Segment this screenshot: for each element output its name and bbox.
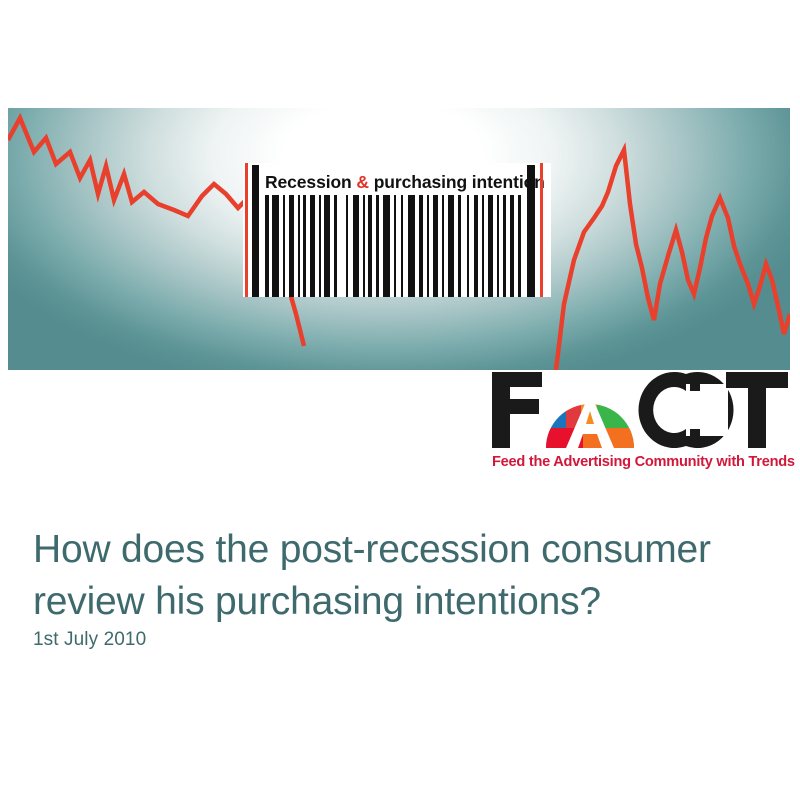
barcode-bars xyxy=(243,195,551,297)
barcode-bar xyxy=(467,195,469,297)
logo-letter-c xyxy=(638,372,733,448)
presentation-date: 1st July 2010 xyxy=(33,629,146,651)
headline-line-2: review his purchasing intentions? xyxy=(33,576,763,628)
barcode-bar xyxy=(448,195,454,297)
barcode-bar xyxy=(482,195,484,297)
logo-letter-f xyxy=(492,372,542,448)
barcode-bar xyxy=(442,195,444,297)
fact-wordmark xyxy=(490,370,790,450)
barcode-bar xyxy=(324,195,330,297)
barcode-title-prefix: Recession xyxy=(265,172,356,192)
barcode-bar xyxy=(394,195,396,297)
barcode-bar xyxy=(346,195,348,297)
barcode-bar xyxy=(334,195,337,297)
barcode-title: Recession & purchasing intention xyxy=(265,169,533,195)
barcode-bar xyxy=(458,195,461,297)
barcode-accent-right xyxy=(540,163,543,297)
barcode-bar xyxy=(298,195,300,297)
logo-letter-a xyxy=(542,392,638,450)
barcode-bar xyxy=(497,195,499,297)
barcode-guard-bar xyxy=(252,165,259,297)
barcode-bar xyxy=(510,195,514,297)
chart-line-right xyxy=(556,150,790,370)
barcode-bar xyxy=(503,195,506,297)
barcode-title-suffix: purchasing intention xyxy=(369,172,545,192)
barcode-title-ampersand: & xyxy=(356,172,369,192)
barcode-bar xyxy=(272,195,279,297)
barcode-bar xyxy=(488,195,493,297)
barcode-bar xyxy=(310,195,315,297)
barcode-graphic: Recession & purchasing intention xyxy=(243,163,551,297)
barcode-bar xyxy=(401,195,403,297)
chart-line-left xyxy=(8,118,264,226)
logo-tagline: Feed the Advertising Community with Tren… xyxy=(492,454,790,470)
logo-letter-t xyxy=(726,372,788,448)
barcode-bar xyxy=(518,195,521,297)
barcode-bar xyxy=(383,195,390,297)
barcode-bar xyxy=(427,195,429,297)
barcode-bar xyxy=(289,195,294,297)
headline-line-1: How does the post-recession consumer xyxy=(33,528,711,571)
barcode-bar xyxy=(368,195,372,297)
barcode-bar xyxy=(283,195,285,297)
barcode-bar xyxy=(353,195,359,297)
barcode-bar xyxy=(265,195,269,297)
page-title: How does the post-recession consumer rev… xyxy=(33,524,763,628)
barcode-bar xyxy=(319,195,321,297)
barcode-bar xyxy=(419,195,423,297)
barcode-bar xyxy=(303,195,306,297)
barcode-accent-left xyxy=(245,163,248,297)
barcode-bar xyxy=(408,195,415,297)
fact-logo: Feed the Advertising Community with Tren… xyxy=(490,370,790,478)
barcode-bar xyxy=(474,195,478,297)
barcode-guard-bar xyxy=(527,165,535,297)
barcode-bar xyxy=(363,195,365,297)
barcode-bar xyxy=(376,195,379,297)
barcode-bar xyxy=(433,195,438,297)
